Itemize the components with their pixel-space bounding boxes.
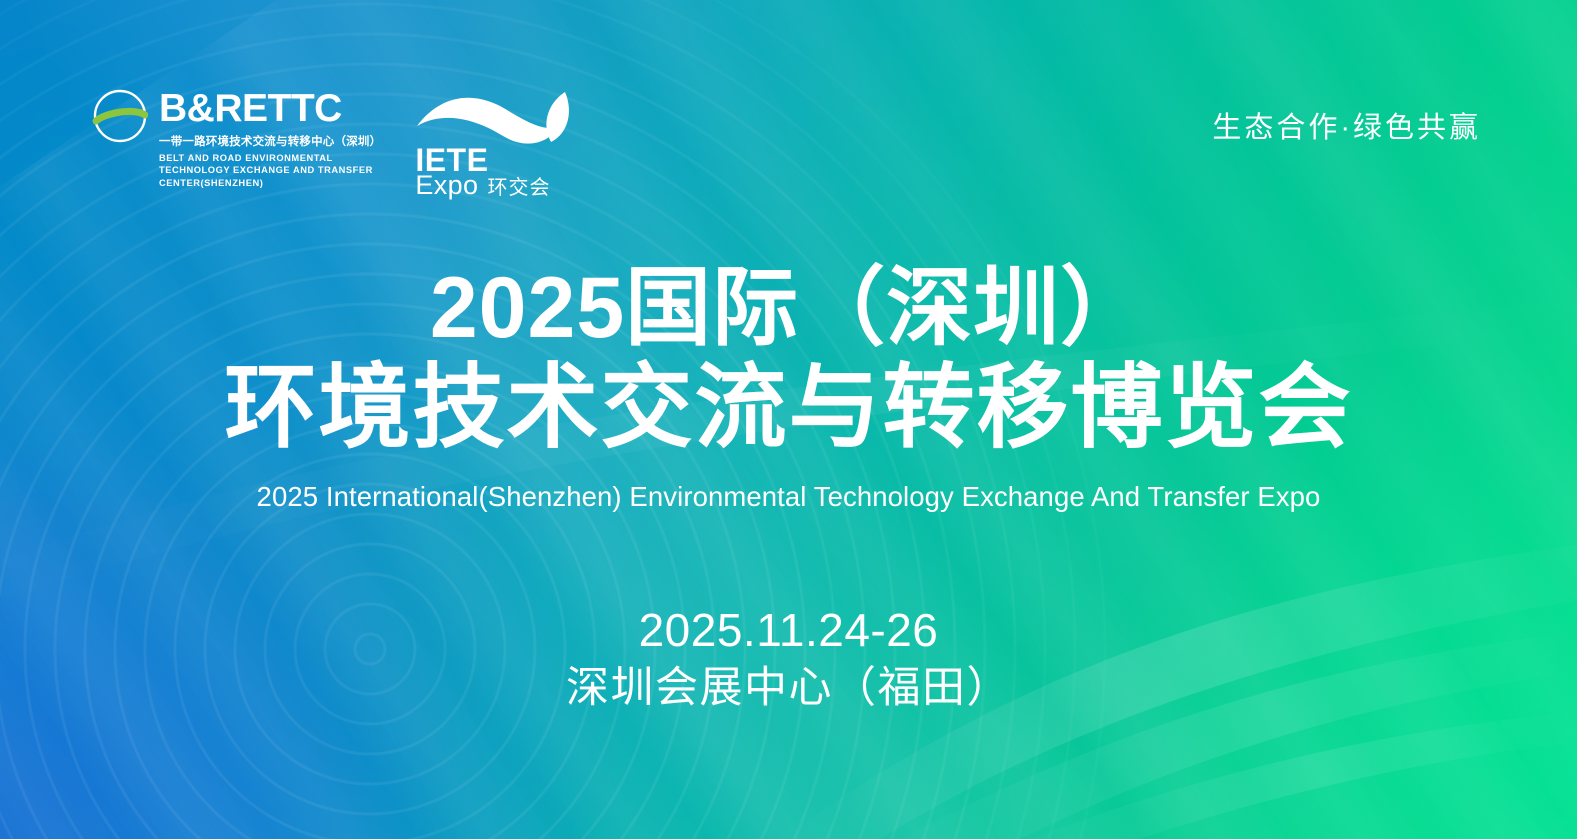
headline-block: 2025国际（深圳） 环境技术交流与转移博览会 2025 Internation… [0,263,1577,513]
event-banner: B&RETTC 一带一路环境技术交流与转移中心（深圳） BELT AND ROA… [0,0,1577,839]
brettc-english-line: TECHNOLOGY EXCHANGE AND TRANSFER [159,164,381,176]
iete-expo-logo[interactable]: IETE Expo 环交会 [415,88,575,193]
iete-chinese-short: 环交会 [487,178,550,198]
brettc-chinese-name: 一带一路环境技术交流与转移中心（深圳） [159,133,381,149]
event-date: 2025.11.24-26 [0,604,1577,657]
brettc-wordmark: B&RETTC [159,90,381,127]
brettc-english-line: BELT AND ROAD ENVIRONMENTAL [159,152,381,164]
brettc-english-name: BELT AND ROAD ENVIRONMENTAL TECHNOLOGY E… [159,152,381,189]
logo-group: B&RETTC 一带一路环境技术交流与转移中心（深圳） BELT AND ROA… [92,88,575,193]
brettc-english-line: CENTER(SHENZHEN) [159,177,381,189]
brettc-logo[interactable]: B&RETTC 一带一路环境技术交流与转移中心（深圳） BELT AND ROA… [92,88,381,189]
iete-expo-word: Expo [415,172,478,199]
globe-circle-icon [92,88,148,144]
headline-line-2: 环境技术交流与转移博览会 [0,359,1577,458]
event-info-block: 2025.11.24-26 深圳会展中心（福田） [0,604,1577,714]
headline-english-subtitle: 2025 International(Shenzhen) Environment… [0,481,1577,513]
event-tagline: 生态合作·绿色共赢 [1212,104,1481,146]
event-venue: 深圳会展中心（福田） [0,663,1577,715]
headline-line-1: 2025国际（深圳） [0,263,1577,353]
